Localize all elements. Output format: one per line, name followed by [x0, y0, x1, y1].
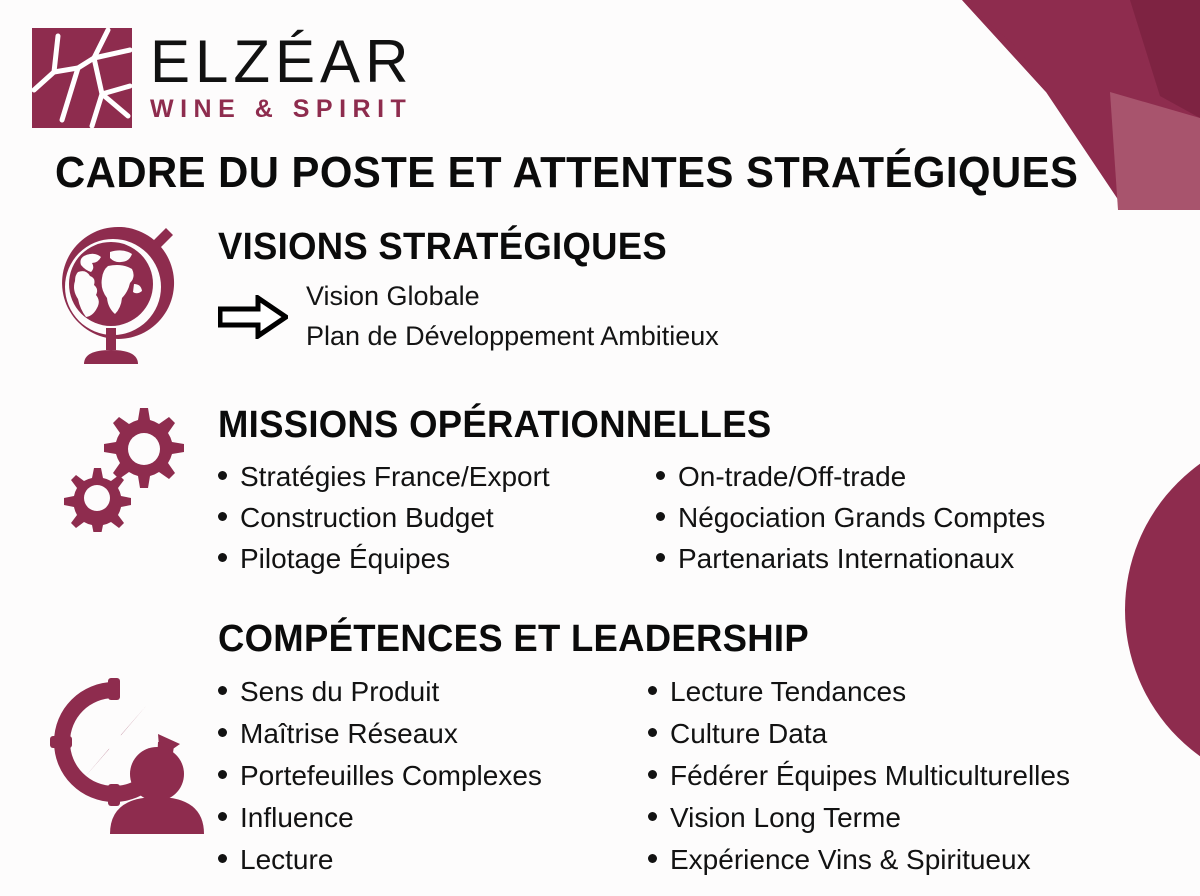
list-item-label: Influence — [240, 797, 354, 839]
list-item: Partenariats Internationaux — [656, 539, 1045, 580]
brand-tagline: WINE & SPIRIT — [150, 95, 413, 124]
bullet-icon — [218, 686, 227, 695]
list-item: Maîtrise Réseaux — [218, 713, 648, 755]
list-item: Portefeuilles Complexes — [218, 755, 648, 797]
globe-icon — [48, 222, 178, 372]
list-item-label: Lecture — [240, 839, 333, 881]
vision-line: Plan de Développement Ambitieux — [306, 317, 719, 357]
section-visions-lines: Vision Globale Plan de Développement Amb… — [306, 277, 719, 356]
list-item-label: Portefeuilles Complexes — [240, 755, 542, 797]
list-item: Pilotage Équipes — [218, 539, 656, 580]
list-item: Sens du Produit — [218, 671, 648, 713]
list-item: Influence — [218, 797, 648, 839]
section-visions-body: Vision Globale Plan de Développement Amb… — [218, 277, 719, 356]
brand-name: ELZÉAR — [150, 33, 413, 90]
section-missions: MISSIONS OPÉRATIONNELLES Stratégies Fran… — [218, 404, 1045, 580]
compass-person-icon — [48, 676, 208, 836]
brand-wordmark-group: ELZÉAR WINE & SPIRIT — [150, 33, 413, 124]
page-title: CADRE DU POSTE ET ATTENTES STRATÉGIQUES — [55, 148, 1100, 198]
gears-icon — [58, 402, 188, 532]
list-item: Expérience Vins & Spiritueux — [648, 839, 1070, 881]
section-visions: VISIONS STRATÉGIQUES Vision Globale Plan… — [218, 226, 719, 356]
brand-logo: ELZÉAR WINE & SPIRIT — [32, 28, 413, 128]
list-item-label: Stratégies France/Export — [240, 457, 550, 498]
list-item-label: Construction Budget — [240, 498, 494, 539]
list-item: Vision Long Terme — [648, 797, 1070, 839]
section-visions-heading: VISIONS STRATÉGIQUES — [218, 226, 699, 269]
bullet-icon — [218, 471, 227, 480]
bullet-icon — [648, 812, 657, 821]
list-item-label: Maîtrise Réseaux — [240, 713, 458, 755]
missions-column-left: Stratégies France/Export Construction Bu… — [218, 457, 656, 580]
list-item-label: Sens du Produit — [240, 671, 439, 713]
section-competences: COMPÉTENCES ET LEADERSHIP Sens du Produi… — [218, 618, 1070, 881]
competences-column-left: Sens du Produit Maîtrise Réseaux Portefe… — [218, 671, 648, 881]
arrow-right-icon — [218, 295, 288, 339]
bullet-icon — [656, 512, 665, 521]
list-item-label: Expérience Vins & Spiritueux — [670, 839, 1031, 881]
list-item-label: Culture Data — [670, 713, 827, 755]
section-competences-heading: COMPÉTENCES ET LEADERSHIP — [218, 618, 1036, 661]
list-item-label: Négociation Grands Comptes — [678, 498, 1045, 539]
bullet-icon — [218, 512, 227, 521]
list-item: Stratégies France/Export — [218, 457, 656, 498]
bullet-icon — [218, 728, 227, 737]
bullet-icon — [218, 553, 227, 562]
decoration-right-circle — [1125, 430, 1200, 790]
section-competences-columns: Sens du Produit Maîtrise Réseaux Portefe… — [218, 671, 1070, 881]
bullet-icon — [648, 854, 657, 863]
list-item-label: On-trade/Off-trade — [678, 457, 906, 498]
missions-column-right: On-trade/Off-trade Négociation Grands Co… — [656, 457, 1045, 580]
bullet-icon — [648, 770, 657, 779]
bullet-icon — [218, 812, 227, 821]
section-missions-heading: MISSIONS OPÉRATIONNELLES — [218, 404, 1012, 447]
list-item-label: Partenariats Internationaux — [678, 539, 1014, 580]
bullet-icon — [218, 854, 227, 863]
bullet-icon — [648, 686, 657, 695]
list-item-label: Lecture Tendances — [670, 671, 906, 713]
list-item-label: Fédérer Équipes Multiculturelles — [670, 755, 1070, 797]
list-item: Culture Data — [648, 713, 1070, 755]
vine-mark-icon — [32, 28, 132, 128]
section-missions-columns: Stratégies France/Export Construction Bu… — [218, 457, 1045, 580]
list-item-label: Pilotage Équipes — [240, 539, 450, 580]
bullet-icon — [218, 770, 227, 779]
list-item: Construction Budget — [218, 498, 656, 539]
list-item: Lecture — [218, 839, 648, 881]
bullet-icon — [648, 728, 657, 737]
list-item: Lecture Tendances — [648, 671, 1070, 713]
bullet-icon — [656, 553, 665, 562]
bullet-icon — [656, 471, 665, 480]
competences-column-right: Lecture Tendances Culture Data Fédérer É… — [648, 671, 1070, 881]
vision-line: Vision Globale — [306, 277, 719, 317]
list-item-label: Vision Long Terme — [670, 797, 901, 839]
list-item: Négociation Grands Comptes — [656, 498, 1045, 539]
list-item: Fédérer Équipes Multiculturelles — [648, 755, 1070, 797]
poster-canvas: ELZÉAR WINE & SPIRIT CADRE DU POSTE ET A… — [0, 0, 1200, 896]
list-item: On-trade/Off-trade — [656, 457, 1045, 498]
